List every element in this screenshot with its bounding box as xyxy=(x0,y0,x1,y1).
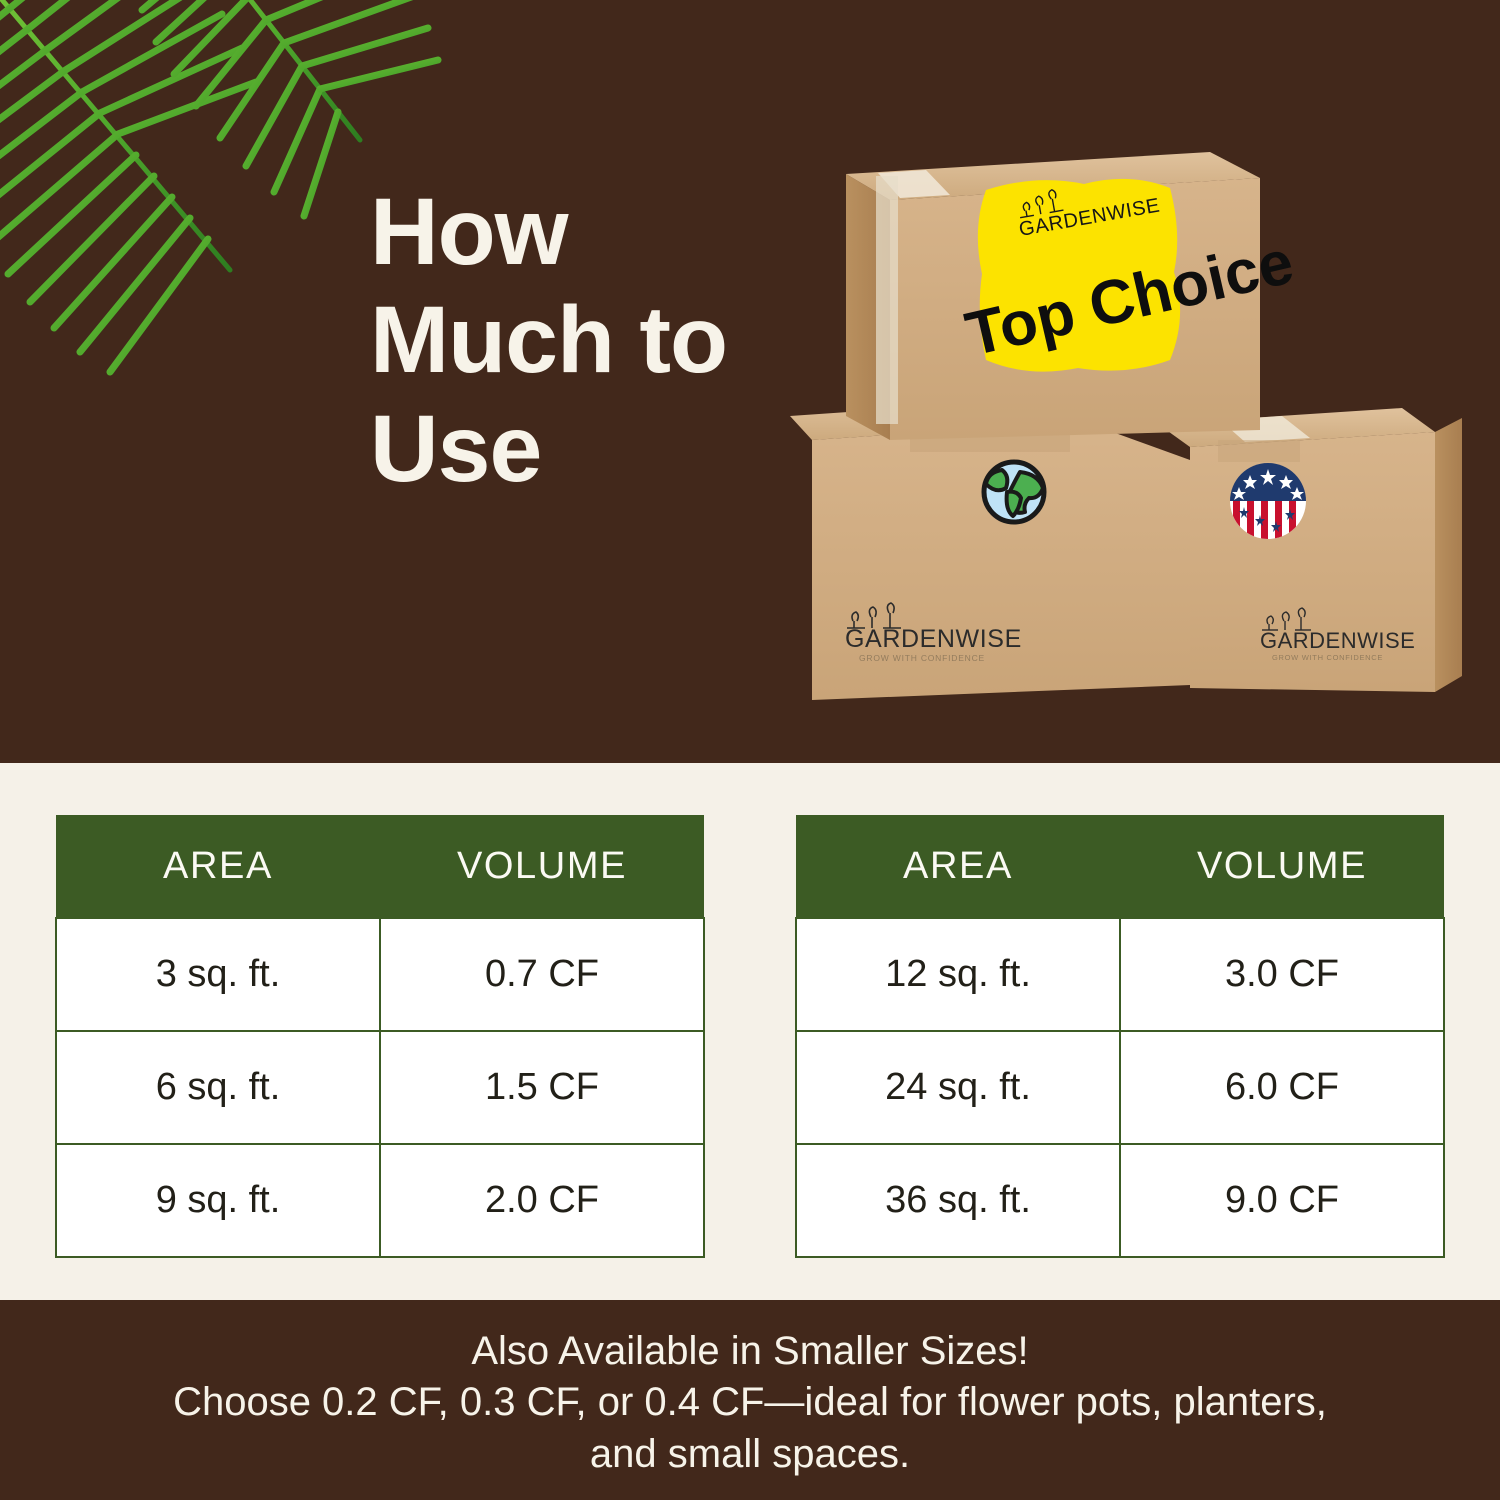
table-row: 3 sq. ft. 0.7 CF xyxy=(56,918,704,1031)
footer-line-3: and small spaces. xyxy=(590,1429,910,1480)
cell-area: 3 sq. ft. xyxy=(56,918,380,1031)
svg-text:GROW WITH CONFIDENCE: GROW WITH CONFIDENCE xyxy=(1272,653,1383,662)
title-line-2: Much to xyxy=(370,286,790,394)
product-boxes-illustration: GARDENWISE GROW WITH CONFIDENCE xyxy=(790,140,1470,720)
svg-text:GARDENWISE: GARDENWISE xyxy=(1260,628,1415,653)
title-line-3: Use xyxy=(370,395,790,503)
table-row: 24 sq. ft. 6.0 CF xyxy=(796,1031,1444,1144)
box-middle: GARDENWISE GROW WITH CONFIDENCE xyxy=(790,398,1210,700)
svg-text:GROW WITH CONFIDENCE: GROW WITH CONFIDENCE xyxy=(859,653,985,663)
table-row: 12 sq. ft. 3.0 CF xyxy=(796,918,1444,1031)
column-header-volume: VOLUME xyxy=(380,815,704,918)
cell-area: 12 sq. ft. xyxy=(796,918,1120,1031)
table-row: 6 sq. ft. 1.5 CF xyxy=(56,1031,704,1144)
hero-section: How Much to Use xyxy=(0,0,1500,763)
coverage-table-left: AREA VOLUME 3 sq. ft. 0.7 CF 6 sq. ft. 1… xyxy=(55,815,705,1258)
cell-volume: 6.0 CF xyxy=(1120,1031,1444,1144)
cell-area: 36 sq. ft. xyxy=(796,1144,1120,1257)
footer-line-2: Choose 0.2 CF, 0.3 CF, or 0.4 CF—ideal f… xyxy=(173,1377,1327,1428)
eco-earth-icon xyxy=(984,462,1044,522)
column-header-volume: VOLUME xyxy=(1120,815,1444,918)
cell-area: 6 sq. ft. xyxy=(56,1031,380,1144)
cell-area: 9 sq. ft. xyxy=(56,1144,380,1257)
table-row: 9 sq. ft. 2.0 CF xyxy=(56,1144,704,1257)
title-line-1: How xyxy=(370,178,790,286)
box-top: GARDENWISE Top Choice xyxy=(846,152,1300,440)
svg-text:GARDENWISE: GARDENWISE xyxy=(845,625,1022,653)
cell-area: 24 sq. ft. xyxy=(796,1031,1120,1144)
column-header-area: AREA xyxy=(56,815,380,918)
infographic-page: How Much to Use xyxy=(0,0,1500,1500)
column-header-area: AREA xyxy=(796,815,1120,918)
table-header-row: AREA VOLUME xyxy=(796,815,1444,918)
cell-volume: 1.5 CF xyxy=(380,1031,704,1144)
box-right: GARDENWISE GROW WITH CONFIDENCE xyxy=(1158,408,1462,692)
cell-volume: 2.0 CF xyxy=(380,1144,704,1257)
cell-volume: 0.7 CF xyxy=(380,918,704,1031)
coverage-table-right: AREA VOLUME 12 sq. ft. 3.0 CF 24 sq. ft.… xyxy=(795,815,1445,1258)
table-row: 36 sq. ft. 9.0 CF xyxy=(796,1144,1444,1257)
page-title: How Much to Use xyxy=(370,178,790,503)
footer-banner: Also Available in Smaller Sizes! Choose … xyxy=(0,1300,1500,1500)
table-header-row: AREA VOLUME xyxy=(56,815,704,918)
cell-volume: 3.0 CF xyxy=(1120,918,1444,1031)
footer-line-1: Also Available in Smaller Sizes! xyxy=(471,1326,1028,1377)
cell-volume: 9.0 CF xyxy=(1120,1144,1444,1257)
tables-section: AREA VOLUME 3 sq. ft. 0.7 CF 6 sq. ft. 1… xyxy=(0,763,1500,1300)
